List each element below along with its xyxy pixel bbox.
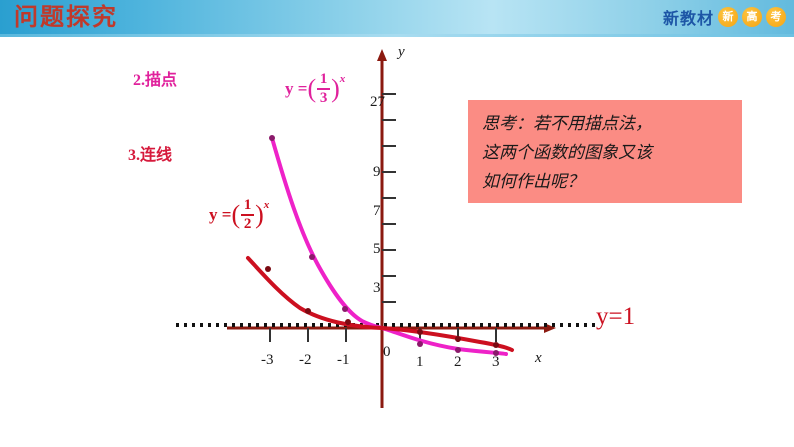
y-tick-label-7: 7 bbox=[373, 203, 381, 220]
paren-open-one-half: ( bbox=[231, 200, 240, 230]
origin-label: 0 bbox=[383, 344, 391, 361]
function-lead-one-third: y = bbox=[285, 79, 307, 99]
function-lead-one-half: y = bbox=[209, 205, 231, 225]
exponent-one-third: x bbox=[340, 73, 346, 85]
y-tick-label-5: 5 bbox=[373, 241, 381, 258]
question-line-3: 如何作出呢？ bbox=[482, 167, 742, 196]
x-tick-label-2: 2 bbox=[454, 354, 462, 371]
paren-open-one-third: ( bbox=[307, 74, 316, 104]
question-line-2: 这两个函数的图象又该 bbox=[482, 138, 742, 167]
brand-badge: 新教材 新 高 考 bbox=[663, 5, 786, 29]
brand-chip-gao: 高 bbox=[742, 7, 762, 27]
page-title: 问题探究 bbox=[14, 3, 118, 33]
question-callout-box: 思考：若不用描点法， 这两个函数的图象又该 如何作出呢？ bbox=[468, 100, 742, 203]
y-axis-ticks bbox=[382, 94, 396, 302]
y-axis-label: y bbox=[398, 44, 405, 61]
function-label-one-third: y = ( 1 3 ) x bbox=[285, 72, 345, 106]
fraction-one-third: 1 3 bbox=[317, 72, 330, 106]
y-tick-label-3: 3 bbox=[373, 280, 381, 297]
fraction-numerator: 1 bbox=[318, 72, 330, 88]
paren-close-one-half: ) bbox=[255, 200, 264, 230]
asymptote-label: y=1 bbox=[596, 303, 635, 331]
function-label-one-half: y = ( 1 2 ) x bbox=[209, 198, 269, 232]
y-axis-arrow bbox=[377, 49, 387, 61]
x-tick-label-3: 3 bbox=[492, 354, 500, 371]
fraction-one-half: 1 2 bbox=[241, 198, 254, 232]
x-axis-label: x bbox=[535, 350, 542, 367]
curve-one-half bbox=[248, 258, 512, 350]
brand-chip-xin: 新 bbox=[718, 7, 738, 27]
fraction-denominator: 2 bbox=[242, 216, 254, 232]
exponent-one-half: x bbox=[264, 199, 270, 211]
fraction-numerator: 1 bbox=[242, 198, 254, 214]
y-tick-label-9: 9 bbox=[373, 164, 381, 181]
brand-text: 新教材 bbox=[663, 5, 714, 29]
curve-one-third-points bbox=[269, 135, 499, 356]
exponential-graph bbox=[0, 37, 794, 447]
paren-close-one-third: ) bbox=[331, 74, 340, 104]
fraction-denominator: 3 bbox=[318, 90, 330, 106]
x-tick-label-minus-3: -3 bbox=[261, 352, 274, 369]
question-line-1: 思考：若不用描点法， bbox=[482, 109, 742, 138]
x-tick-label-minus-2: -2 bbox=[299, 352, 312, 369]
x-tick-label-minus-1: -1 bbox=[337, 352, 350, 369]
x-tick-label-1: 1 bbox=[416, 354, 424, 371]
y-tick-label-27: 27 bbox=[370, 94, 385, 111]
brand-chip-kao: 考 bbox=[766, 7, 786, 27]
